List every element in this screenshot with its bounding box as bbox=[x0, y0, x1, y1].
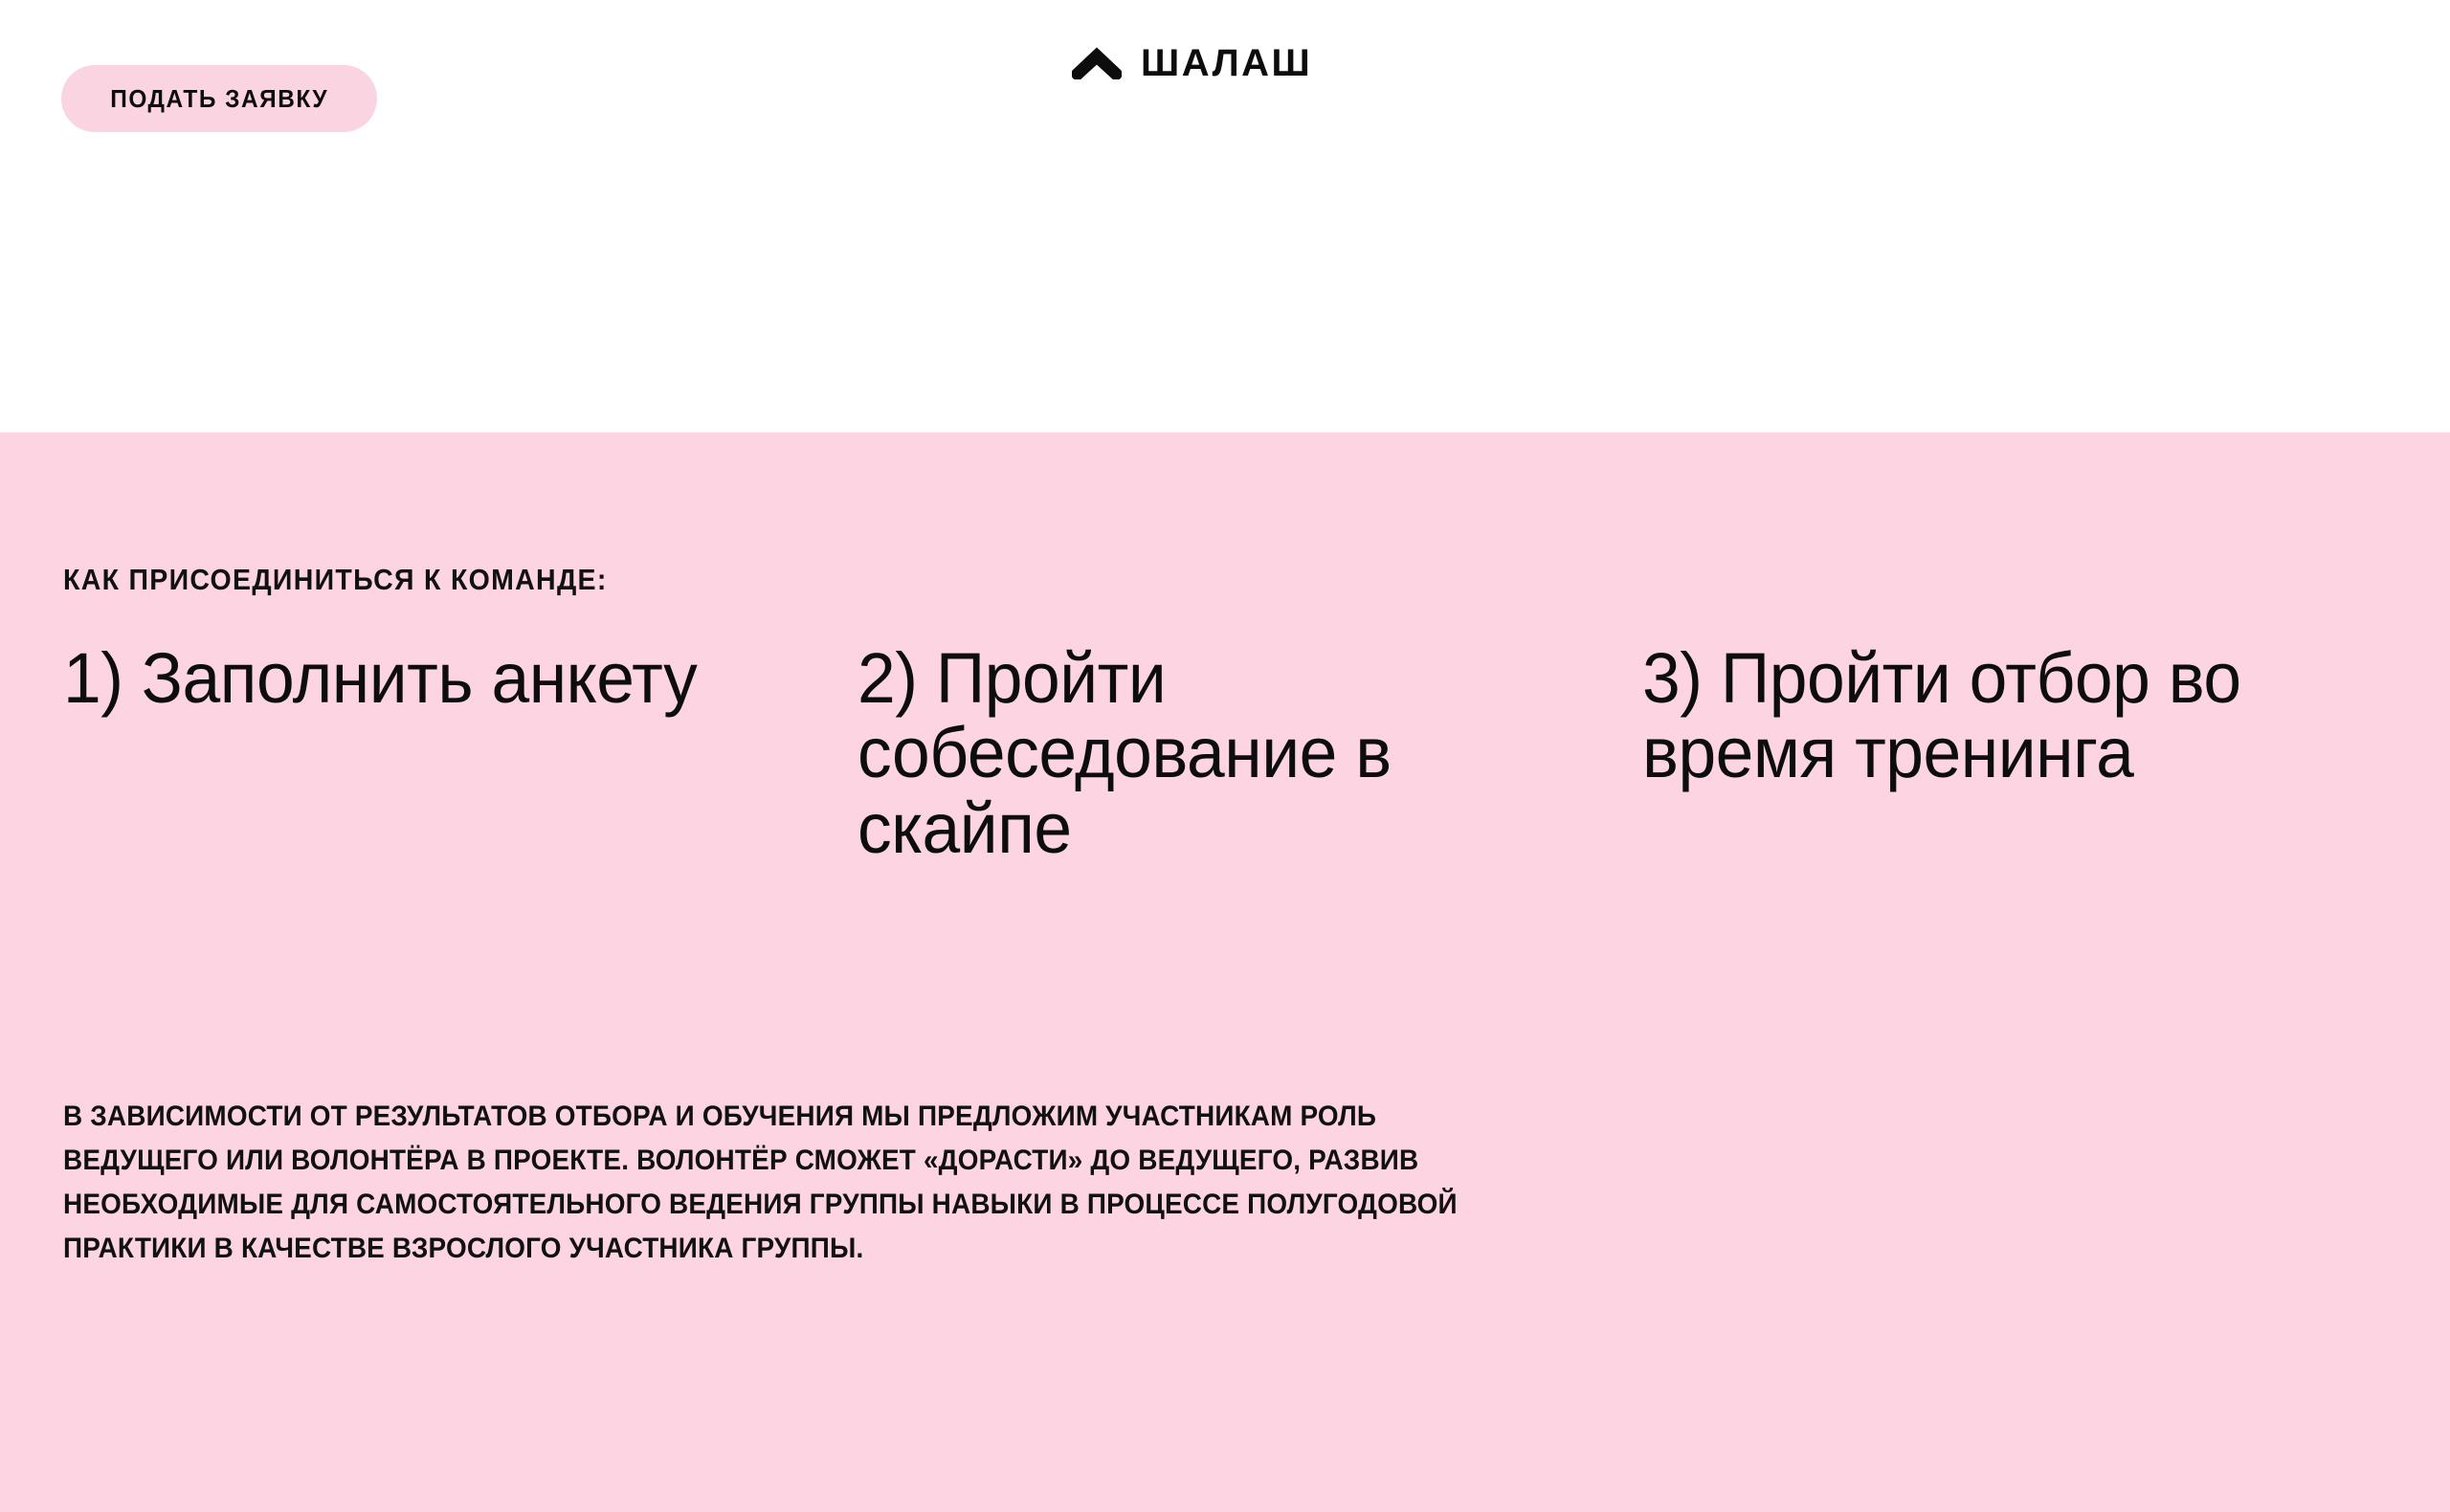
apply-button-label: ПОДАТЬ ЗАЯВКУ bbox=[110, 84, 328, 114]
body-line: ВЕДУЩЕГО ИЛИ ВОЛОНТЁРА В ПРОЕКТЕ. ВОЛОНТ… bbox=[63, 1139, 2217, 1183]
body-line: НЕОБХОДИМЫЕ ДЛЯ САМОСТОЯТЕЛЬНОГО ВЕДЕНИЯ… bbox=[63, 1183, 2217, 1227]
step-3-text: 3) Пройти отбор во время тренинга bbox=[1642, 641, 2372, 791]
join-team-section: КАК ПРИСОЕДИНИТЬСЯ К КОМАНДЕ: 1) Заполни… bbox=[0, 433, 2450, 1512]
body-line: В ЗАВИСИМОСТИ ОТ РЕЗУЛЬТАТОВ ОТБОРА И ОБ… bbox=[63, 1095, 2217, 1139]
step-item: 1) Заполнить анкету bbox=[63, 641, 857, 716]
apply-button[interactable]: ПОДАТЬ ЗАЯВКУ bbox=[61, 65, 377, 132]
brand-name: ШАЛАШ bbox=[1141, 44, 1312, 82]
body-line: ПРАКТИКИ В КАЧЕСТВЕ ВЗРОСЛОГО УЧАСТНИКА … bbox=[63, 1227, 2217, 1271]
section-body-copy: В ЗАВИСИМОСТИ ОТ РЕЗУЛЬТАТОВ ОТБОРА И ОБ… bbox=[63, 1095, 2217, 1271]
tent-chevron-icon bbox=[1072, 47, 1122, 79]
step-item: 2) Пройти собеседование в скайпе bbox=[857, 641, 1642, 866]
steps-list: 1) Заполнить анкету 2) Пройти собеседова… bbox=[63, 641, 2398, 866]
step-2-text: 2) Пройти собеседование в скайпе bbox=[857, 641, 1615, 866]
brand-logo[interactable]: ШАЛАШ bbox=[1072, 44, 1312, 82]
site-header: ПОДАТЬ ЗАЯВКУ ШАЛАШ bbox=[0, 0, 2450, 433]
step-item: 3) Пройти отбор во время тренинга bbox=[1642, 641, 2398, 791]
step-1-text: 1) Заполнить анкету bbox=[63, 641, 830, 716]
page-root: ПОДАТЬ ЗАЯВКУ ШАЛАШ КАК ПРИСОЕДИНИТЬСЯ К… bbox=[0, 0, 2450, 1512]
section-eyebrow: КАК ПРИСОЕДИНИТЬСЯ К КОМАНДЕ: bbox=[63, 563, 608, 597]
